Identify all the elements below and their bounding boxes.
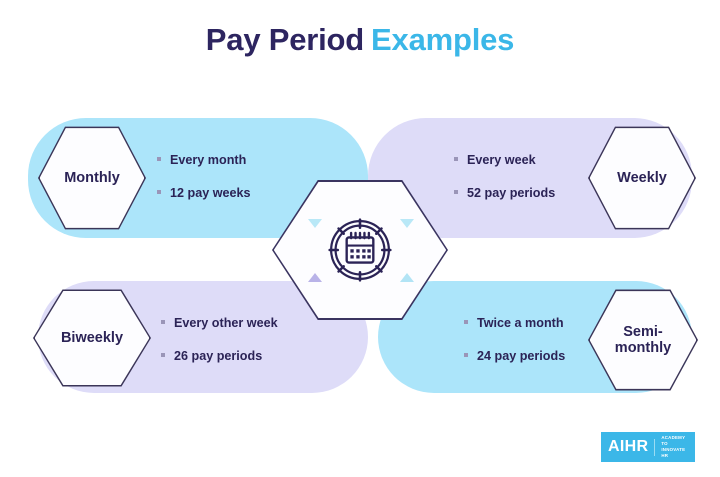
bullet-square-icon [161,353,165,357]
logo-tagline: ACADEMY TO INNOVATE HR [661,435,688,459]
bullet-list-semi-monthly: Twice a month 24 pay periods [464,316,565,363]
calendar-clock-icon [323,213,397,287]
bullet-list-monthly: Every month 12 pay weeks [157,153,251,200]
bullet-square-icon [454,157,458,161]
bullet-square-icon [464,320,468,324]
list-item: 52 pay periods [454,186,555,200]
center-hexagon [272,180,448,320]
list-item: Every other week [161,316,278,330]
bullet-square-icon [157,157,161,161]
bullet-list-biweekly: Every other week 26 pay periods [161,316,278,363]
list-item: Twice a month [464,316,565,330]
bullet-square-icon [454,190,458,194]
bullet-text: 52 pay periods [467,186,555,200]
hexagon-label-monthly: Monthly [64,170,120,186]
logo-tagline-line1: ACADEMY TO [661,435,685,446]
bullet-square-icon [464,353,468,357]
hexagon-label-weekly: Weekly [617,170,667,186]
bullet-text: 26 pay periods [174,349,262,363]
bullet-text: Every month [170,153,246,167]
triangle-up-left-icon [308,273,322,282]
list-item: Every month [157,153,251,167]
list-item: 12 pay weeks [157,186,251,200]
hexagon-label-line2: monthly [615,340,671,356]
hexagon-fill: Semi- monthly [590,290,697,391]
triangle-down-left-icon [308,219,322,228]
hexagon-label-line1: Semi- [623,324,663,340]
list-item: Every week [454,153,555,167]
bullet-text: 12 pay weeks [170,186,251,200]
hexagon-fill: Monthly [40,127,145,230]
bullet-square-icon [157,190,161,194]
bullet-text: Every other week [174,316,278,330]
triangle-up-right-icon [400,273,414,282]
page-title: Pay PeriodExamples [0,22,720,58]
hexagon-weekly: Weekly [588,125,696,231]
logo-tagline-line2: INNOVATE HR [661,447,685,458]
list-item: 26 pay periods [161,349,278,363]
list-item: 24 pay periods [464,349,565,363]
title-accent: Examples [371,22,514,57]
logo-wordmark: AIHR [608,439,648,455]
hexagon-monthly: Monthly [38,125,146,231]
triangle-down-right-icon [400,219,414,228]
infographic-canvas: Pay PeriodExamples Monthly Weekly Biweek… [0,0,720,477]
logo-divider [654,439,655,456]
bullet-text: 24 pay periods [477,349,565,363]
hexagon-fill: Biweekly [35,290,150,387]
hexagon-label-biweekly: Biweekly [61,330,123,346]
bullet-text: Every week [467,153,536,167]
hexagon-biweekly: Biweekly [33,288,151,388]
hexagon-semi-monthly: Semi- monthly [588,288,698,392]
bullet-square-icon [161,320,165,324]
aihr-logo[interactable]: AIHR ACADEMY TO INNOVATE HR [601,432,695,462]
bullet-text: Twice a month [477,316,564,330]
bullet-list-weekly: Every week 52 pay periods [454,153,555,200]
hexagon-label-semi-monthly: Semi- monthly [615,324,671,356]
title-primary: Pay Period [206,22,364,57]
hexagon-fill: Weekly [590,127,695,230]
